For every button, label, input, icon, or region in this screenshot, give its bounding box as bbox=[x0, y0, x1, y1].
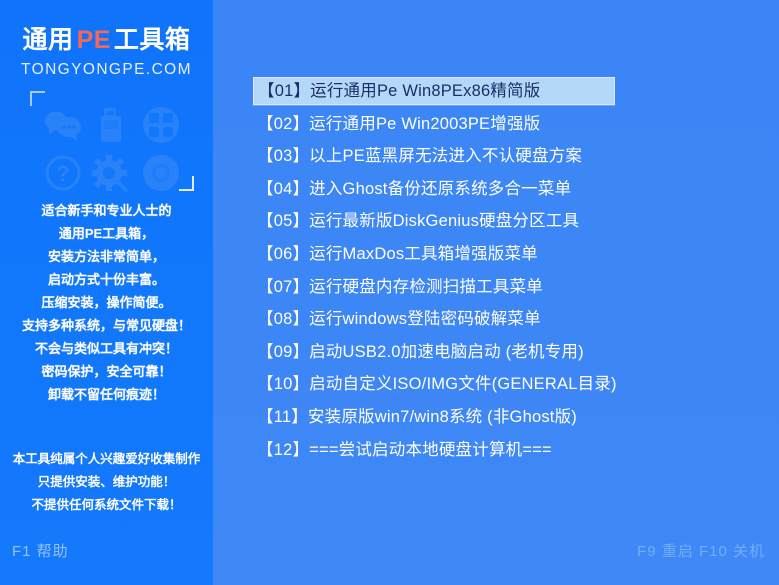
chat-bubbles-icon bbox=[38, 101, 87, 149]
windows-grid-icon bbox=[136, 101, 185, 149]
gear-settings-icon bbox=[87, 149, 136, 197]
menu-item-02[interactable]: 【02】运行通用Pe Win2003PE增强版 bbox=[253, 111, 723, 138]
feature-line: 密码保护，安全可靠！ bbox=[0, 360, 213, 383]
menu-item-09[interactable]: 【09】启动USB2.0加速电脑启动 (老机专用) bbox=[253, 339, 723, 366]
brand-logo: 通用PE工具箱 TONGYONGPE.COM bbox=[0, 28, 213, 78]
menu-item-05[interactable]: 【05】运行最新版DiskGenius硬盘分区工具 bbox=[253, 208, 723, 235]
brand-title-accent: PE bbox=[77, 26, 111, 54]
feature-line: 启动方式十份丰富。 bbox=[0, 268, 213, 291]
feature-line: 通用PE工具箱， bbox=[0, 222, 213, 245]
menu-item-03[interactable]: 【03】以上PE蓝黑屏无法进入不认硬盘方案 bbox=[253, 143, 723, 170]
boot-menu-screen: 通用PE工具箱 TONGYONGPE.COM bbox=[0, 0, 779, 585]
menu-item-06[interactable]: 【06】运行MaxDos工具箱增强版菜单 bbox=[253, 241, 723, 268]
menu-item-04[interactable]: 【04】进入Ghost备份还原系统多合一菜单 bbox=[253, 176, 723, 203]
feature-text-list: 适合新手和专业人士的 通用PE工具箱， 安装方法非常简单， 启动方式十份丰富。 … bbox=[0, 199, 213, 406]
feature-line: 不会与类似工具有冲突！ bbox=[0, 337, 213, 360]
menu-item-11[interactable]: 【11】安装原版win7/win8系统 (非Ghost版) bbox=[253, 404, 723, 431]
feature-line: 压缩安装，操作简便。 bbox=[0, 291, 213, 314]
brand-title: 通用PE工具箱 bbox=[0, 28, 213, 53]
sidebar: 通用PE工具箱 TONGYONGPE.COM bbox=[0, 0, 213, 585]
feature-icon-grid: ? bbox=[30, 91, 194, 191]
menu-item-07[interactable]: 【07】运行硬盘内存检测扫描工具菜单 bbox=[253, 274, 723, 301]
footnote-line: 只提供安装、维护功能！ bbox=[0, 471, 213, 494]
menu-item-10[interactable]: 【10】启动自定义ISO/IMG文件(GENERAL目录) bbox=[253, 371, 723, 398]
usb-drive-icon bbox=[87, 101, 136, 149]
feature-line: 支持多种系统，与常见硬盘！ bbox=[0, 314, 213, 337]
feature-line: 安装方法非常简单， bbox=[0, 245, 213, 268]
help-hint[interactable]: F1 帮助 bbox=[12, 540, 69, 561]
power-hints[interactable]: F9 重启 F10 关机 bbox=[637, 540, 765, 561]
footnote-text-list: 本工具纯属个人兴趣爱好收集制作 只提供安装、维护功能！ 不提供任何系统文件下载！ bbox=[0, 448, 213, 517]
brand-title-prefix: 通用 bbox=[23, 26, 74, 54]
cd-disc-icon bbox=[136, 149, 185, 197]
footnote-line: 本工具纯属个人兴趣爱好收集制作 bbox=[0, 448, 213, 471]
boot-menu-list[interactable]: 【01】运行通用Pe Win8PEx86精简版 【02】运行通用Pe Win20… bbox=[253, 77, 723, 469]
brand-domain: TONGYONGPE.COM bbox=[0, 62, 213, 78]
question-mark-icon: ? bbox=[38, 149, 87, 197]
status-bar: F1 帮助 F9 重启 F10 关机 bbox=[0, 530, 779, 585]
footnote-line: 不提供任何系统文件下载！ bbox=[0, 494, 213, 517]
menu-item-12[interactable]: 【12】===尝试启动本地硬盘计算机=== bbox=[253, 437, 723, 464]
svg-text:?: ? bbox=[56, 161, 69, 186]
feature-line: 卸载不留任何痕迹！ bbox=[0, 383, 213, 406]
menu-item-08[interactable]: 【08】运行windows登陆密码破解菜单 bbox=[253, 306, 723, 333]
feature-line: 适合新手和专业人士的 bbox=[0, 199, 213, 222]
brand-title-suffix: 工具箱 bbox=[114, 26, 191, 54]
menu-item-01[interactable]: 【01】运行通用Pe Win8PEx86精简版 bbox=[253, 77, 615, 105]
